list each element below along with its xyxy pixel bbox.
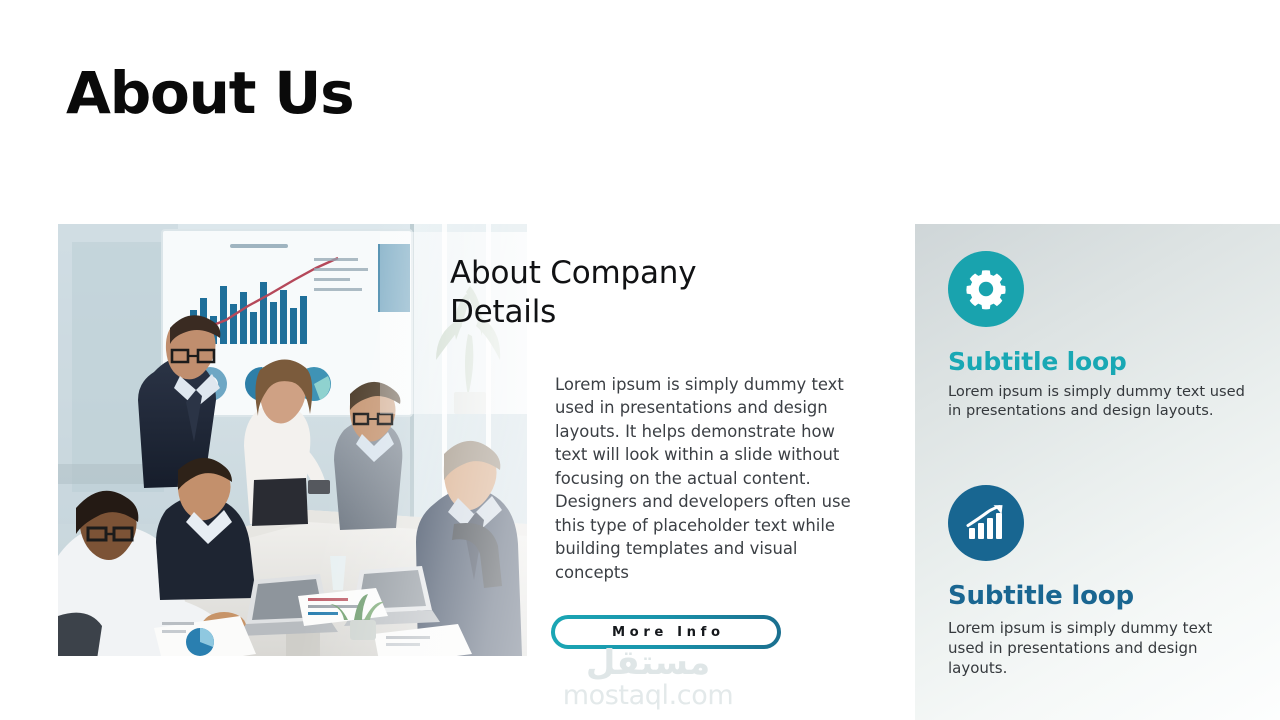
more-info-button[interactable]: More Info — [551, 615, 781, 649]
growth-chart-icon — [948, 485, 1024, 561]
body-paragraph: Lorem ipsum is simply dummy text used in… — [555, 373, 861, 584]
feature-title-1: Subtitle loop — [948, 347, 1268, 376]
page-title: About Us — [66, 62, 353, 126]
feature-title-2: Subtitle loop — [948, 581, 1268, 611]
feature-item-1: Subtitle loop Lorem ipsum is simply dumm… — [948, 251, 1268, 421]
watermark-latin: mostaql.com — [548, 681, 748, 711]
more-info-button-label: More Info — [607, 625, 724, 640]
feature-description-1: Lorem ipsum is simply dummy text used in… — [948, 382, 1248, 421]
watermark: مستقل mostaql.com — [548, 646, 748, 710]
slide-about-us: About Us — [0, 0, 1280, 720]
features-panel: Subtitle loop Lorem ipsum is simply dumm… — [915, 224, 1280, 720]
feature-description-2: Lorem ipsum is simply dummy text used in… — [948, 619, 1248, 679]
watermark-arabic: مستقل — [548, 646, 748, 682]
gear-icon — [948, 251, 1024, 327]
feature-item-2: Subtitle loop Lorem ipsum is simply dumm… — [948, 485, 1268, 679]
section-heading: About Company Details — [450, 254, 750, 332]
